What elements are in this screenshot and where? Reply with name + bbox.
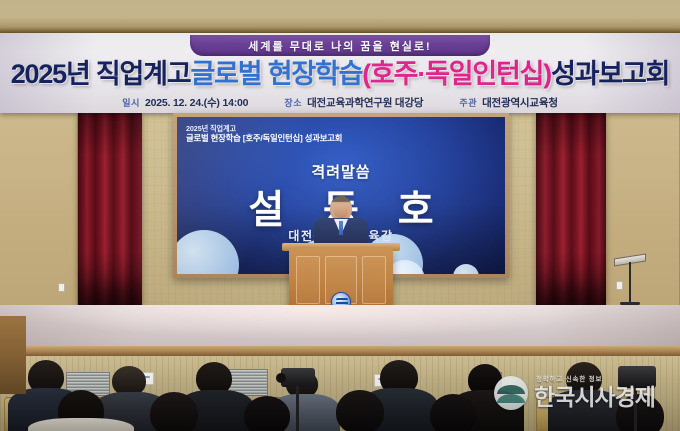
watermark-name: 한국시사경제 bbox=[534, 386, 655, 409]
banner-title-part2: 글로벌 현장학습 bbox=[190, 61, 362, 88]
slide-header: 2025년 직업계고 글로벌 현장학습 [호주/독일인턴십] 성과보고회 bbox=[186, 124, 342, 144]
banner-ribbon: 세계를 무대로 나의 꿈을 현실로! bbox=[190, 35, 490, 56]
slide-header-line1: 2025년 직업계고 bbox=[186, 124, 342, 133]
wall-outlet bbox=[616, 281, 623, 290]
banner-info-label: 주관 bbox=[459, 96, 477, 109]
stage-floor bbox=[0, 305, 680, 348]
stage-curtain-left bbox=[78, 113, 142, 305]
banner-info-value: 2025. 12. 24.(수) 14:00 bbox=[145, 95, 248, 110]
right-wall-panel bbox=[606, 113, 680, 305]
watermark-tagline: 정확하고 신속한 정보 bbox=[536, 377, 655, 384]
podium-panel bbox=[296, 256, 320, 304]
audience-head-front bbox=[336, 390, 384, 431]
speaker-tie bbox=[339, 221, 343, 235]
press-logo-icon bbox=[494, 376, 528, 410]
banner-info-venue: 장소 대전교육과학연구원 대강당 bbox=[284, 95, 423, 110]
banner-info-label: 일시 bbox=[122, 96, 140, 109]
banner-info-value: 대전교육과학연구원 대강당 bbox=[307, 95, 423, 110]
photo-canvas: 세계를 무대로 나의 꿈을 현실로! 2025년 직업계고 글로벌 현장학습 (… bbox=[0, 0, 680, 431]
banner-info-host: 주관 대전광역시교육청 bbox=[459, 95, 557, 110]
side-wood-column bbox=[0, 316, 26, 394]
banner-info-row: 일시 2025. 12. 24.(수) 14:00 장소 대전교육과학연구원 대… bbox=[0, 93, 680, 111]
stage-floor-sheen bbox=[0, 305, 680, 348]
stage-curtain-right bbox=[536, 113, 606, 305]
banner-title-part1: 2025년 직업계고 bbox=[11, 61, 191, 88]
banner-info-label: 장소 bbox=[284, 96, 302, 109]
banner-info-datetime: 일시 2025. 12. 24.(수) 14:00 bbox=[122, 95, 248, 110]
slide-header-line2: 글로벌 현장학습 [호주/독일인턴십] 성과보고회 bbox=[186, 133, 342, 144]
audience-shoulders-front bbox=[28, 418, 134, 431]
audience-head-front bbox=[430, 394, 476, 431]
music-stand-pole bbox=[629, 262, 631, 304]
watermark: 정확하고 신속한 정보 한국시사경제 bbox=[494, 371, 674, 415]
banner-title-part4: 성과보고회 bbox=[551, 61, 669, 88]
watermark-text: 정확하고 신속한 정보 한국시사경제 bbox=[534, 377, 655, 409]
audience-head-front bbox=[150, 392, 198, 431]
banner-title-part3: (호주·독일인턴십) bbox=[362, 61, 551, 88]
banner-title: 2025년 직업계고 글로벌 현장학습 (호주·독일인턴십) 성과보고회 bbox=[0, 58, 680, 91]
left-wall-panel bbox=[0, 113, 78, 305]
podium-panel bbox=[362, 256, 386, 304]
camera-tripod bbox=[296, 386, 299, 431]
camera-lens-icon bbox=[276, 373, 286, 383]
video-camera bbox=[281, 368, 315, 387]
banner-info-value: 대전광역시교육청 bbox=[482, 95, 558, 110]
wall-outlet bbox=[58, 283, 65, 292]
audience-head-front bbox=[244, 396, 290, 431]
stage-floor-edge bbox=[0, 346, 680, 356]
banner-slogan: 세계를 무대로 나의 꿈을 현실로! bbox=[248, 38, 431, 54]
event-banner: 세계를 무대로 나의 꿈을 현실로! 2025년 직업계고 글로벌 현장학습 (… bbox=[0, 33, 680, 113]
speaker-face bbox=[334, 205, 348, 218]
